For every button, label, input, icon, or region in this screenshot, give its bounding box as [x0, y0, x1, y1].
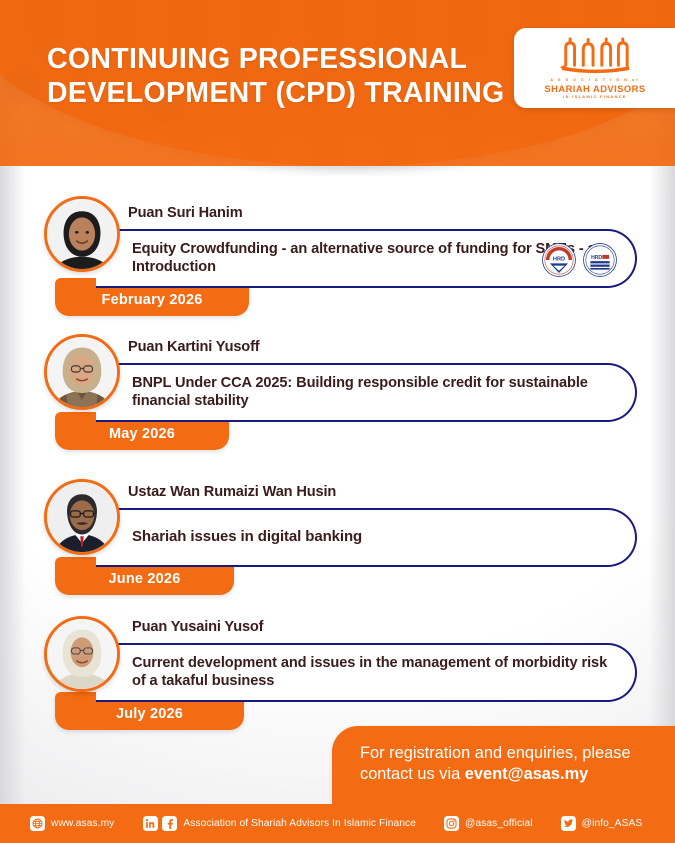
session-topic-card: BNPL Under CCA 2025: Building responsibl…	[96, 363, 637, 422]
speaker-avatar	[44, 616, 120, 692]
speaker-name: Puan Kartini Yusoff	[128, 339, 260, 355]
footer-social-pages[interactable]: Association of Shariah Advisors In Islam…	[143, 816, 416, 831]
registration-email[interactable]: event@asas.my	[465, 765, 589, 783]
svg-text:HRD: HRD	[591, 255, 602, 261]
logo-subtitle: IN ISLAMIC FINANCE	[563, 95, 627, 99]
session-topic: BNPL Under CCA 2025: Building responsibl…	[132, 375, 623, 411]
svg-text:HRD: HRD	[553, 257, 565, 263]
footer-website[interactable]: www.asas.my	[30, 816, 114, 831]
speaker-photo-wan-rumaizi-icon	[47, 482, 117, 552]
cpd-training-poster: CONTINUING PROFESSIONAL DEVELOPMENT (CPD…	[0, 0, 675, 843]
logo-name: SHARIAH ADVISORS	[544, 84, 645, 93]
footer-instagram-label: @asas_official	[465, 818, 533, 829]
registration-line-2-prefix: contact us via	[360, 765, 465, 783]
speaker-avatar	[44, 334, 120, 410]
footer-instagram[interactable]: @asas_official	[444, 816, 533, 831]
session-topic-card: Equity Crowdfunding - an alternative sou…	[96, 229, 637, 288]
footer-website-label: www.asas.my	[51, 818, 114, 829]
speaker-photo-suri-hanim-icon	[47, 199, 117, 269]
certification-badges: HRD HRD	[542, 243, 617, 277]
session-entry: July 2026 Current development and issues…	[0, 610, 675, 742]
registration-line-1: For registration and enquiries, please	[360, 744, 631, 762]
session-entry: June 2026 Shariah issues in digital bank…	[0, 475, 675, 607]
speaker-name: Puan Suri Hanim	[128, 205, 243, 221]
session-topic: Shariah issues in digital banking	[132, 528, 362, 546]
asas-logo-card: A S S O C I A T I O N of SHARIAH ADVISOR…	[514, 28, 675, 108]
session-topic-card: Current development and issues in the ma…	[96, 643, 637, 702]
session-topic: Current development and issues in the ma…	[132, 655, 623, 691]
registration-panel: For registration and enquiries, please c…	[332, 726, 675, 804]
footer-social-label: Association of Shariah Advisors In Islam…	[183, 818, 416, 829]
linkedin-icon	[143, 816, 158, 831]
footer-twitter[interactable]: @info_ASAS	[561, 816, 643, 831]
twitter-icon	[561, 816, 576, 831]
registration-text: For registration and enquiries, please c…	[360, 743, 661, 785]
session-entry: February 2026 Equity Crowdfunding - an a…	[0, 196, 675, 328]
session-date-label: May 2026	[109, 426, 175, 442]
speaker-photo-kartini-yusoff-icon	[47, 337, 117, 407]
hrd-corp-claimable-badge-icon: HRD	[542, 243, 576, 277]
speaker-avatar	[44, 196, 120, 272]
session-date-label: July 2026	[116, 706, 183, 722]
speaker-photo-yusaini-yusof-icon	[47, 619, 117, 689]
session-topic-card: Shariah issues in digital banking	[96, 508, 637, 567]
speaker-name: Puan Yusaini Yusof	[132, 619, 263, 635]
page-title: CONTINUING PROFESSIONAL DEVELOPMENT (CPD…	[47, 42, 517, 110]
poster-footer: www.asas.my Association of Shariah Advis…	[0, 804, 675, 843]
asas-calligraphy-logo-icon	[556, 37, 634, 77]
globe-icon	[30, 816, 45, 831]
instagram-icon	[444, 816, 459, 831]
session-date-label: June 2026	[109, 571, 181, 587]
footer-twitter-label: @info_ASAS	[582, 818, 643, 829]
session-entry: May 2026 BNPL Under CCA 2025: Building r…	[0, 330, 675, 462]
session-date-label: February 2026	[102, 292, 203, 308]
poster-header: CONTINUING PROFESSIONAL DEVELOPMENT (CPD…	[0, 0, 675, 176]
speaker-name: Ustaz Wan Rumaizi Wan Husin	[128, 484, 336, 500]
hrd-corp-registered-badge-icon: HRD	[583, 243, 617, 277]
facebook-icon	[162, 816, 177, 831]
speaker-avatar	[44, 479, 120, 555]
